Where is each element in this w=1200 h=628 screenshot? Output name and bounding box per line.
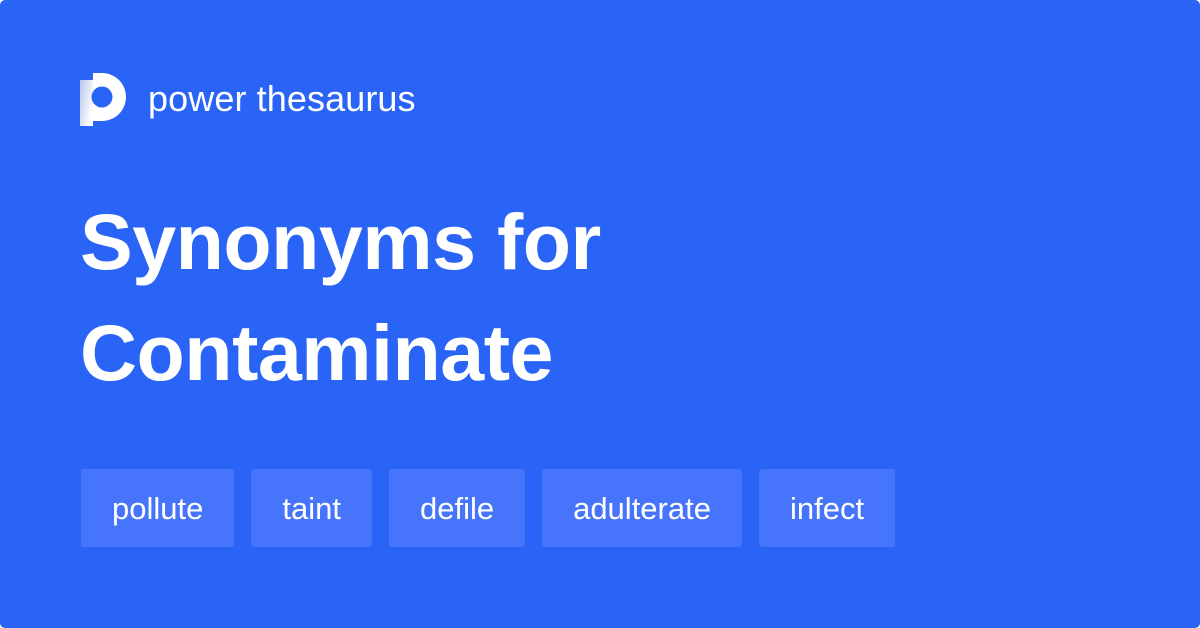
page-title-line-2: Contaminate	[80, 297, 1120, 408]
page-title: Synonyms for Contaminate	[80, 186, 1120, 408]
synonym-chip[interactable]: adulterate	[542, 469, 742, 547]
brand-header[interactable]: power thesaurus	[80, 72, 416, 126]
share-card: power thesaurus Synonyms for Contaminate…	[0, 0, 1200, 628]
synonym-chip[interactable]: infect	[759, 469, 895, 547]
synonym-chip[interactable]: taint	[251, 469, 372, 547]
synonym-chip[interactable]: defile	[389, 469, 525, 547]
synonym-chip-label: pollute	[112, 493, 203, 524]
synonym-chip-label: infect	[790, 493, 864, 524]
synonym-chip-list: pollute taint defile adulterate infect	[81, 469, 895, 547]
synonym-chip-label: taint	[282, 493, 341, 524]
brand-name: power thesaurus	[148, 81, 416, 117]
page-title-line-1: Synonyms for	[80, 186, 1120, 297]
synonym-chip[interactable]: pollute	[81, 469, 234, 547]
power-thesaurus-logo-icon	[80, 72, 126, 126]
synonym-chip-label: adulterate	[573, 493, 711, 524]
synonym-chip-label: defile	[420, 493, 494, 524]
